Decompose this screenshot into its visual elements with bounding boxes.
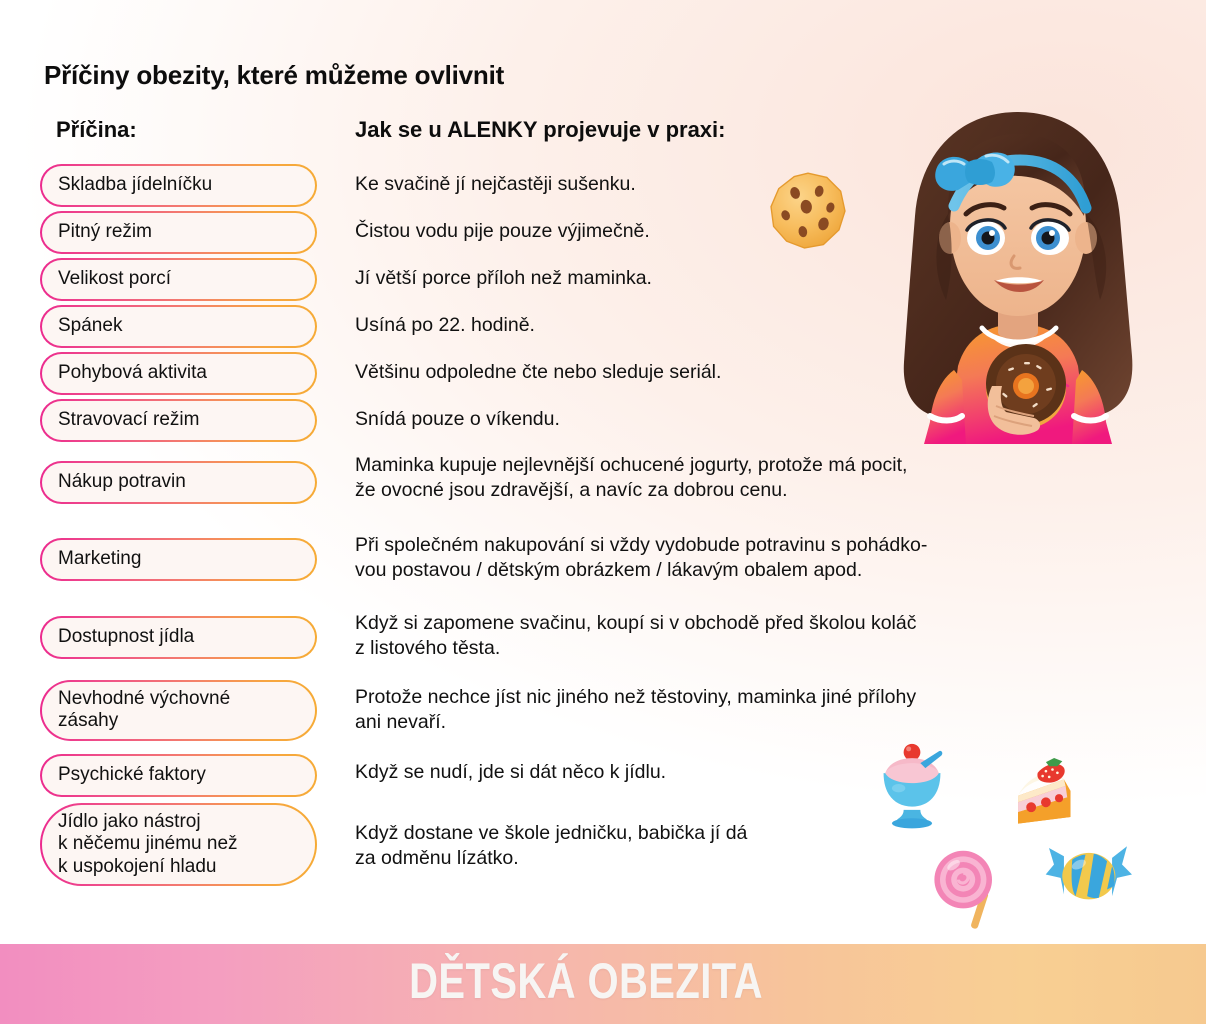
pill-inner: Nákup potravin (42, 463, 315, 502)
cause-pill-spanek[interactable]: Spánek (40, 305, 317, 348)
cause-label: Spánek (58, 315, 122, 337)
column-header-cause: Příčina: (56, 117, 137, 143)
practice-text-stravovaci-rezim: Snídá pouze o víkendu. (355, 407, 560, 432)
cause-label: Nákup potravin (58, 471, 186, 493)
pill-inner: Pitný režim (42, 213, 315, 252)
cause-pill-pohybova-aktivita[interactable]: Pohybová aktivita (40, 352, 317, 395)
cause-pill-dostupnost-jidla[interactable]: Dostupnost jídla (40, 616, 317, 659)
cause-pill-skladba-jidelnicku[interactable]: Skladba jídelníčku (40, 164, 317, 207)
footer-banner-title: DĚTSKÁ OBEZITA (104, 952, 1069, 1010)
cause-label: Stravovací režim (58, 409, 199, 431)
cause-pill-pitny-rezim[interactable]: Pitný režim (40, 211, 317, 254)
practice-text-nevhodne-vychovne-zasahy: Protože nechce jíst nic jiného než těsto… (355, 685, 916, 736)
ice-cream-sundae-icon (870, 738, 954, 830)
pill-inner: Marketing (42, 540, 315, 579)
cause-pill-velikost-porci[interactable]: Velikost porcí (40, 258, 317, 301)
cause-label: Velikost porcí (58, 268, 171, 290)
candy-icon (1042, 838, 1134, 916)
cause-label: Pohybová aktivita (58, 362, 207, 384)
practice-text-nakup-potravin: Maminka kupuje nejlevnější ochucené jogu… (355, 453, 907, 504)
cause-label: Pitný režim (58, 221, 152, 243)
lollipop-icon (928, 846, 1008, 930)
cause-pill-nevhodne-vychovne-zasahy[interactable]: Nevhodné výchovné zásahy (40, 680, 317, 741)
practice-text-dostupnost-jidla: Když si zapomene svačinu, koupí si v obc… (355, 611, 916, 662)
cause-pill-marketing[interactable]: Marketing (40, 538, 317, 581)
practice-text-pitny-rezim: Čistou vodu pije pouze výjimečně. (355, 219, 650, 244)
cause-pill-nakup-potravin[interactable]: Nákup potravin (40, 461, 317, 504)
pill-inner: Nevhodné výchovné zásahy (42, 682, 315, 739)
pill-inner: Stravovací režim (42, 401, 315, 440)
practice-text-velikost-porci: Jí větší porce příloh než maminka. (355, 266, 652, 291)
cause-pill-psychicke-faktory[interactable]: Psychické faktory (40, 754, 317, 797)
pill-inner: Spánek (42, 307, 315, 346)
page-title: Příčiny obezity, které můžeme ovlivnit (44, 60, 504, 91)
cause-label: Jídlo jako nástroj k něčemu jinému než k… (58, 811, 238, 878)
strawberry-shortcake-icon (1000, 748, 1082, 832)
practice-text-jidlo-jako-nastroj: Když dostane ve škole jedničku, babička … (355, 821, 747, 872)
cause-label: Marketing (58, 548, 141, 570)
cause-label: Dostupnost jídla (58, 626, 194, 648)
cookie-icon (765, 168, 851, 254)
infographic-page: Příčiny obezity, které můžeme ovlivnit P… (0, 0, 1206, 1024)
column-header-practice: Jak se u ALENKY projevuje v praxi: (355, 117, 725, 143)
pill-inner: Psychické faktory (42, 756, 315, 795)
pill-inner: Jídlo jako nástroj k něčemu jinému než k… (42, 805, 315, 884)
practice-text-spanek: Usíná po 22. hodině. (355, 313, 535, 338)
cause-label: Nevhodné výchovné zásahy (58, 688, 230, 733)
pill-inner: Skladba jídelníčku (42, 166, 315, 205)
practice-text-marketing: Při společném nakupování si vždy vydobud… (355, 533, 927, 584)
pill-inner: Velikost porcí (42, 260, 315, 299)
cause-label: Psychické faktory (58, 764, 206, 786)
cause-pill-jidlo-jako-nastroj[interactable]: Jídlo jako nástroj k něčemu jinému než k… (40, 803, 317, 886)
cause-pill-stravovaci-rezim[interactable]: Stravovací režim (40, 399, 317, 442)
pill-inner: Dostupnost jídla (42, 618, 315, 657)
pill-inner: Pohybová aktivita (42, 354, 315, 393)
practice-text-psychicke-faktory: Když se nudí, jde si dát něco k jídlu. (355, 760, 666, 785)
practice-text-skladba-jidelnicku: Ke svačině jí nejčastěji sušenku. (355, 172, 636, 197)
cause-label: Skladba jídelníčku (58, 174, 212, 196)
girl-with-donut-illustration (862, 104, 1174, 444)
practice-text-pohybova-aktivita: Většinu odpoledne čte nebo sleduje seriá… (355, 360, 721, 385)
